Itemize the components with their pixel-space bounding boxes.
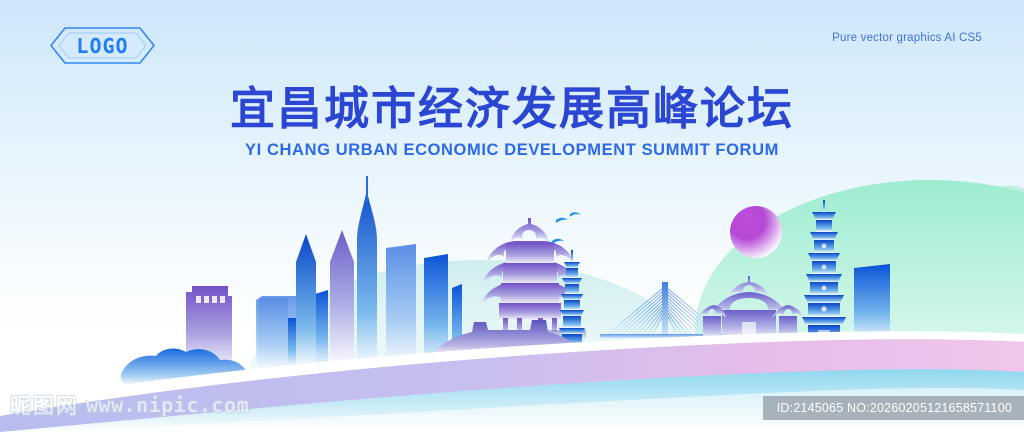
sun-circle-icon <box>730 206 782 258</box>
logo-badge[interactable]: LOGO <box>50 27 155 64</box>
page-title: 宜昌城市经济发展高峰论坛 <box>0 84 1024 134</box>
logo-label: LOGO <box>50 27 155 64</box>
birds-icon <box>552 212 581 244</box>
page-subtitle: YI CHANG URBAN ECONOMIC DEVELOPMENT SUMM… <box>0 141 1024 160</box>
title-block: 宜昌城市经济发展高峰论坛 YI CHANG URBAN ECONOMIC DEV… <box>0 84 1024 160</box>
poster-canvas: LOGO Pure vector graphics AI CS5 宜昌城市经济发… <box>0 0 1024 432</box>
id-badge: ID:2145065 NO:20260205121658571100 <box>763 396 1024 420</box>
illustration-scene <box>0 0 1024 432</box>
bridge-pylon-icon <box>662 282 668 336</box>
vector-note-text: Pure vector graphics AI CS5 <box>832 32 982 44</box>
